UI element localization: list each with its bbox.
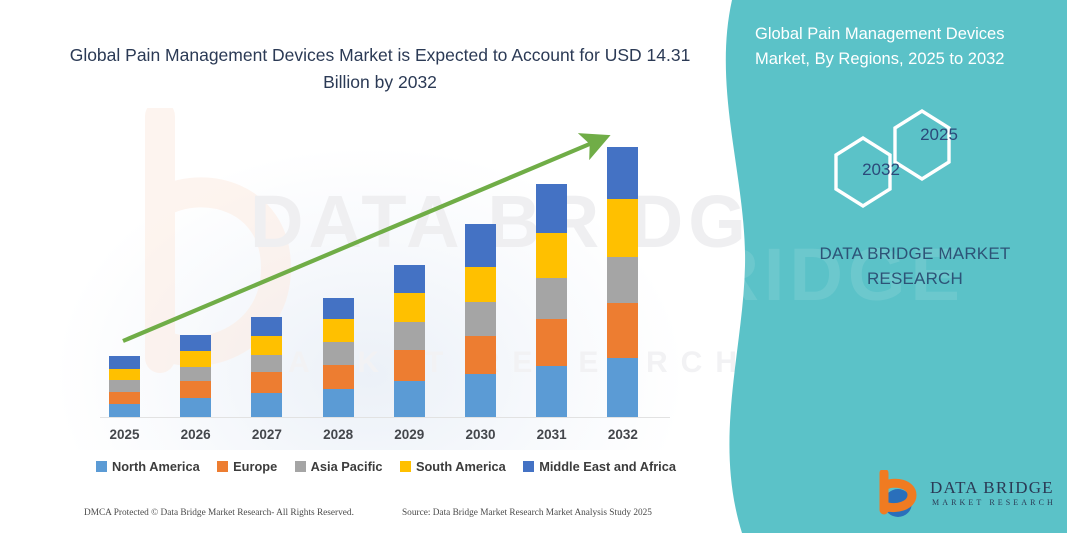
footer: DMCA Protected © Data Bridge Market Rese… [0, 508, 700, 528]
x-axis-label-2025: 2025 [95, 427, 155, 442]
logo-text-sub: MARKET RESEARCH [932, 498, 1056, 507]
x-axis-labels: 20252026202720282029203020312032 [100, 427, 670, 447]
legend-swatch-icon [96, 461, 107, 472]
legend-label: Asia Pacific [311, 459, 383, 474]
x-axis-label-2031: 2031 [522, 427, 582, 442]
legend-label: Europe [233, 459, 277, 474]
x-axis-label-2030: 2030 [451, 427, 511, 442]
right-panel-title: Global Pain Management Devices Market, B… [755, 22, 1045, 72]
legend-label: Middle East and Africa [539, 459, 676, 474]
legend-label: South America [416, 459, 506, 474]
x-axis-label-2026: 2026 [166, 427, 226, 442]
legend-item: South America [400, 459, 506, 474]
legend-label: North America [112, 459, 200, 474]
legend-item: Middle East and Africa [523, 459, 676, 474]
legend-swatch-icon [400, 461, 411, 472]
legend-item: Asia Pacific [295, 459, 383, 474]
footer-source-text: Source: Data Bridge Market Research Mark… [402, 508, 652, 518]
x-axis-label-2027: 2027 [237, 427, 297, 442]
legend-swatch-icon [217, 461, 228, 472]
right-panel-brand-text: DATA BRIDGE MARKET RESEARCH [790, 242, 1040, 291]
hexagon-label-2032: 2032 [846, 160, 916, 180]
logo-text-main: DATA BRIDGE [930, 478, 1054, 498]
data-bridge-logo-icon [872, 470, 928, 518]
legend-item: North America [96, 459, 200, 474]
legend-swatch-icon [523, 461, 534, 472]
x-axis-line [100, 417, 670, 418]
footer-dmca-text: DMCA Protected © Data Bridge Market Rese… [84, 508, 354, 518]
x-axis-label-2032: 2032 [593, 427, 653, 442]
x-axis-label-2029: 2029 [379, 427, 439, 442]
left-content-panel: DATA BRIDGE MARKET RESEARCH Global Pain … [0, 0, 760, 533]
legend-swatch-icon [295, 461, 306, 472]
hexagon-group: 2032 2025 [830, 102, 990, 217]
infographic-page: DATA BRIDGE MARKET RESEARCH Global Pain … [0, 0, 1067, 533]
chart-legend: North AmericaEuropeAsia PacificSouth Ame… [96, 459, 676, 474]
hexagon-label-2025: 2025 [904, 125, 974, 145]
legend-item: Europe [217, 459, 277, 474]
x-axis-label-2028: 2028 [308, 427, 368, 442]
trend-arrow-icon [0, 0, 760, 533]
